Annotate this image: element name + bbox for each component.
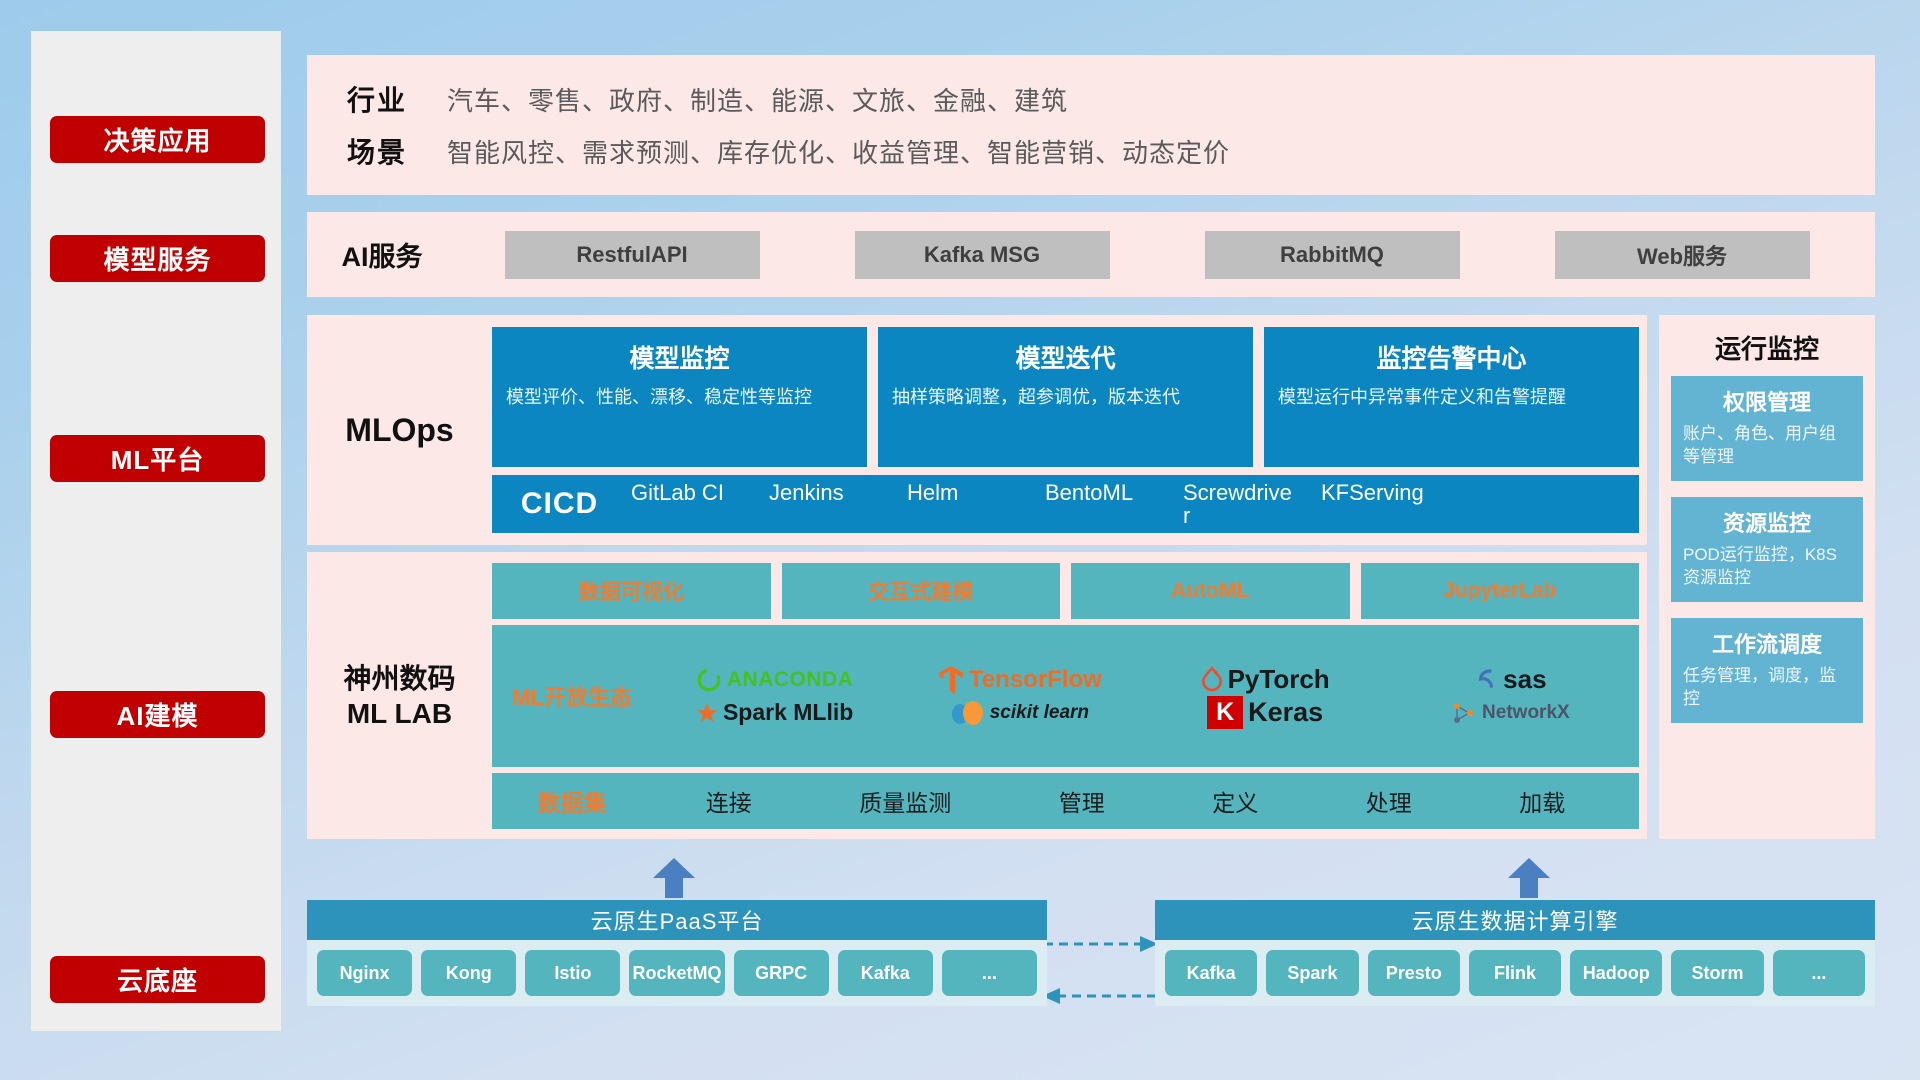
- scikit-learn-logo[interactable]: scikit learn: [951, 700, 1089, 726]
- ai-service-chip-restfulapi[interactable]: RestfulAPI: [505, 231, 760, 279]
- ai-service-panel: AI服务 RestfulAPI Kafka MSG RabbitMQ Web服务: [307, 212, 1875, 297]
- monitor-card-resource[interactable]: 资源监控 POD运行监控，K8S资源监控: [1671, 497, 1863, 602]
- mlops-label: MLOps: [307, 315, 492, 545]
- cloud-native-paas-title: 云原生PaaS平台: [307, 900, 1047, 940]
- cicd-item-jenkins[interactable]: Jenkins: [765, 481, 885, 527]
- dataset-item-list: 连接 质量监测 管理 定义 处理 加载: [652, 784, 1639, 818]
- rail-item-ai-modeling[interactable]: AI建模: [50, 691, 265, 738]
- cicd-item-kfserving[interactable]: KFServing: [1317, 481, 1437, 527]
- paas-chip-grpc[interactable]: GRPC: [734, 950, 829, 996]
- tensorflow-icon: [938, 665, 964, 695]
- rail-item-model-service[interactable]: 模型服务: [50, 235, 265, 282]
- engine-chip-spark[interactable]: Spark: [1266, 950, 1358, 996]
- rail-item-ml-platform[interactable]: ML平台: [50, 435, 265, 482]
- dataset-bar: 数据集 连接 质量监测 管理 定义 处理 加载: [492, 773, 1639, 829]
- dataset-label: 数据集: [492, 784, 652, 818]
- cicd-item-list: GitLab CI Jenkins Helm BentoML Screwdriv…: [627, 481, 1639, 527]
- cloud-native-paas-chip-list: Nginx Kong Istio RocketMQ GRPC Kafka ...: [307, 940, 1047, 1006]
- dataset-item-manage[interactable]: 管理: [1059, 784, 1105, 818]
- sas-logo-text: sas: [1503, 664, 1546, 695]
- cicd-bar: CICD GitLab CI Jenkins Helm BentoML Scre…: [492, 475, 1639, 533]
- monitor-card-permission[interactable]: 权限管理 账户、角色、用户组等管理: [1671, 376, 1863, 481]
- ml-ecosystem-logo-grid: ANACONDA TensorFlow PyTorch sas: [652, 663, 1639, 729]
- paas-chip-kong[interactable]: Kong: [421, 950, 516, 996]
- engine-chip-kafka[interactable]: Kafka: [1165, 950, 1257, 996]
- mlops-card-title: 监控告警中心: [1278, 339, 1625, 375]
- networkx-logo[interactable]: NetworkX: [1451, 700, 1570, 726]
- industry-label: 行业: [307, 79, 447, 119]
- cicd-item-gitlab-ci[interactable]: GitLab CI: [627, 481, 747, 527]
- pytorch-logo-text: PyTorch: [1228, 664, 1330, 695]
- rail-item-decision-app[interactable]: 决策应用: [50, 116, 265, 163]
- sas-icon: [1474, 667, 1498, 693]
- industry-value: 汽车、零售、政府、制造、能源、文旅、金融、建筑: [447, 81, 1068, 118]
- monitor-card-title: 权限管理: [1683, 385, 1851, 417]
- dataset-item-quality[interactable]: 质量监测: [859, 784, 951, 818]
- mlops-card-model-iteration[interactable]: 模型迭代 抽样策略调整，超参调优，版本迭代: [878, 327, 1253, 467]
- bidirectional-dashed-connector: [1040, 930, 1160, 1010]
- anaconda-icon: [696, 667, 722, 693]
- pytorch-logo[interactable]: PyTorch: [1201, 664, 1330, 695]
- cicd-item-screwdriver[interactable]: Screwdriver: [1179, 481, 1299, 527]
- rail-item-cloud-base[interactable]: 云底座: [50, 956, 265, 1003]
- cloud-native-data-engine-title: 云原生数据计算引擎: [1155, 900, 1875, 940]
- engine-chip-flink[interactable]: Flink: [1469, 950, 1561, 996]
- spark-mllib-logo-text: Spark MLlib: [723, 699, 853, 726]
- dataset-item-load[interactable]: 加载: [1519, 784, 1565, 818]
- cicd-label: CICD: [492, 487, 627, 521]
- ml-open-ecosystem-label: ML开放生态: [492, 680, 652, 712]
- ml-lab-label: 神州数码 ML LAB: [307, 552, 492, 839]
- pytorch-icon: [1201, 666, 1223, 694]
- ml-lab-tool-data-visualization[interactable]: 数据可视化: [492, 563, 771, 619]
- cicd-item-helm[interactable]: Helm: [903, 481, 1023, 527]
- industry-scenario-panel: 行业 汽车、零售、政府、制造、能源、文旅、金融、建筑 场景 智能风控、需求预测、…: [307, 55, 1875, 195]
- dataset-item-process[interactable]: 处理: [1366, 784, 1412, 818]
- ai-service-chip-rabbitmq[interactable]: RabbitMQ: [1205, 231, 1460, 279]
- mlops-panel: MLOps 模型监控 模型评价、性能、漂移、稳定性等监控 模型迭代 抽样策略调整…: [307, 315, 1647, 545]
- up-arrow-paas-icon: [651, 858, 697, 898]
- ml-lab-tool-jupyterlab[interactable]: JupyterLab: [1361, 563, 1640, 619]
- ml-lab-label-line2: ML LAB: [347, 698, 452, 729]
- engine-chip-more[interactable]: ...: [1773, 950, 1865, 996]
- monitor-card-title: 工作流调度: [1683, 627, 1851, 659]
- ml-open-ecosystem-bar: ML开放生态 ANACONDA TensorFlow PyTorch: [492, 625, 1639, 767]
- anaconda-logo-text: ANACONDA: [727, 668, 854, 692]
- ai-service-label: AI服务: [307, 235, 457, 274]
- scikit-learn-icon: [951, 700, 985, 726]
- scenario-line: 场景 智能风控、需求预测、库存优化、收益管理、智能营销、动态定价: [307, 125, 1875, 177]
- ml-lab-label-line1: 神州数码: [343, 663, 455, 694]
- cloud-native-data-engine-chip-list: Kafka Spark Presto Flink Hadoop Storm ..…: [1155, 940, 1875, 1006]
- ml-lab-tool-interactive-modeling[interactable]: 交互式建模: [782, 563, 1061, 619]
- mlops-card-title: 模型监控: [506, 339, 853, 375]
- monitor-card-desc: 任务管理，调度，监控: [1683, 665, 1851, 711]
- sas-logo[interactable]: sas: [1474, 664, 1546, 695]
- scenario-value: 智能风控、需求预测、库存优化、收益管理、智能营销、动态定价: [447, 133, 1230, 170]
- mlops-card-desc: 模型运行中异常事件定义和告警提醒: [1278, 385, 1625, 410]
- ai-service-chip-list: RestfulAPI Kafka MSG RabbitMQ Web服务: [457, 231, 1875, 279]
- mlops-card-alert-center[interactable]: 监控告警中心 模型运行中异常事件定义和告警提醒: [1264, 327, 1639, 467]
- engine-chip-presto[interactable]: Presto: [1368, 950, 1460, 996]
- left-label-rail: 决策应用 模型服务 ML平台 AI建模 云底座: [31, 31, 281, 1031]
- networkx-icon: [1451, 700, 1477, 726]
- paas-chip-kafka[interactable]: Kafka: [838, 950, 933, 996]
- dataset-item-define[interactable]: 定义: [1212, 784, 1258, 818]
- keras-icon: K: [1207, 696, 1243, 729]
- mlops-card-title: 模型迭代: [892, 339, 1239, 375]
- monitor-card-workflow[interactable]: 工作流调度 任务管理，调度，监控: [1671, 618, 1863, 723]
- mlops-card-desc: 模型评价、性能、漂移、稳定性等监控: [506, 385, 853, 410]
- industry-line: 行业 汽车、零售、政府、制造、能源、文旅、金融、建筑: [307, 73, 1875, 125]
- paas-chip-rocketmq[interactable]: RocketMQ: [629, 950, 724, 996]
- engine-chip-hadoop[interactable]: Hadoop: [1570, 950, 1662, 996]
- keras-logo[interactable]: K Keras: [1207, 696, 1323, 729]
- run-monitoring-panel: 运行监控 权限管理 账户、角色、用户组等管理 资源监控 POD运行监控，K8S资…: [1659, 315, 1875, 839]
- paas-chip-more[interactable]: ...: [942, 950, 1037, 996]
- spark-mllib-logo[interactable]: Spark MLlib: [696, 699, 853, 726]
- ai-service-chip-web[interactable]: Web服务: [1555, 231, 1810, 279]
- ml-lab-panel: 神州数码 ML LAB 数据可视化 交互式建模 AutoML JupyterLa…: [307, 552, 1647, 839]
- cicd-item-bentoml[interactable]: BentoML: [1041, 481, 1161, 527]
- scikit-learn-logo-text: scikit learn: [990, 702, 1089, 724]
- tensorflow-logo[interactable]: TensorFlow: [938, 665, 1102, 695]
- engine-chip-storm[interactable]: Storm: [1671, 950, 1763, 996]
- cloud-native-paas-group: 云原生PaaS平台 Nginx Kong Istio RocketMQ GRPC…: [307, 900, 1047, 1006]
- run-monitoring-title: 运行监控: [1659, 315, 1875, 376]
- ai-service-chip-kafka-msg[interactable]: Kafka MSG: [855, 231, 1110, 279]
- scenario-label: 场景: [307, 131, 447, 171]
- tensorflow-logo-text: TensorFlow: [969, 666, 1102, 694]
- monitor-card-desc: 账户、角色、用户组等管理: [1683, 423, 1851, 469]
- anaconda-logo[interactable]: ANACONDA: [696, 667, 854, 693]
- mlops-card-list: 模型监控 模型评价、性能、漂移、稳定性等监控 模型迭代 抽样策略调整，超参调优，…: [492, 327, 1639, 467]
- up-arrow-data-engine-icon: [1506, 858, 1552, 898]
- dataset-item-connect[interactable]: 连接: [706, 784, 752, 818]
- ml-lab-tool-list: 数据可视化 交互式建模 AutoML JupyterLab: [492, 563, 1639, 619]
- ml-lab-tool-automl[interactable]: AutoML: [1071, 563, 1350, 619]
- keras-logo-text: Keras: [1248, 697, 1323, 728]
- paas-chip-istio[interactable]: Istio: [525, 950, 620, 996]
- spark-star-icon: [696, 702, 718, 724]
- monitor-card-desc: POD运行监控，K8S资源监控: [1683, 544, 1851, 590]
- monitor-card-title: 资源监控: [1683, 506, 1851, 538]
- mlops-card-desc: 抽样策略调整，超参调优，版本迭代: [892, 385, 1239, 410]
- cloud-native-data-engine-group: 云原生数据计算引擎 Kafka Spark Presto Flink Hadoo…: [1155, 900, 1875, 1006]
- mlops-card-model-monitoring[interactable]: 模型监控 模型评价、性能、漂移、稳定性等监控: [492, 327, 867, 467]
- paas-chip-nginx[interactable]: Nginx: [317, 950, 412, 996]
- networkx-logo-text: NetworkX: [1482, 702, 1570, 724]
